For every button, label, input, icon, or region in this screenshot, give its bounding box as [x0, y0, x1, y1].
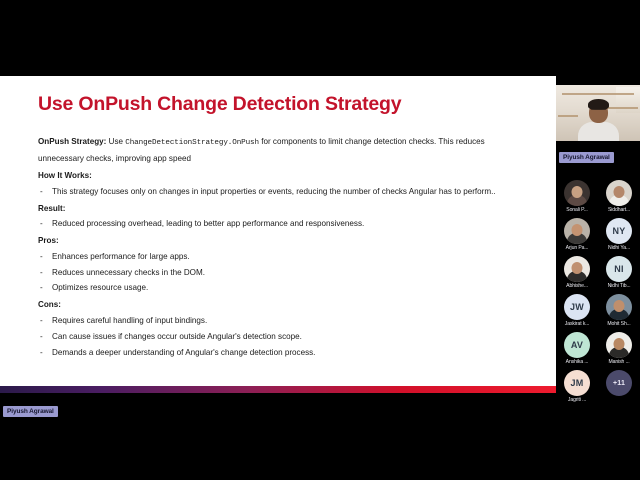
avatar-initials: NY — [606, 218, 632, 244]
avatar-head — [572, 186, 583, 198]
speaker-body — [578, 122, 619, 141]
avatar-initials: JM — [564, 370, 590, 396]
more-participants-tile[interactable]: +11 — [598, 368, 640, 406]
avatar — [564, 180, 590, 206]
bullet-dash: - — [40, 329, 43, 345]
bullet-text: Requires careful handling of input bindi… — [52, 316, 207, 325]
shelf-shape — [562, 93, 634, 95]
participant-name: Sonali P... — [556, 207, 598, 213]
avatar-initials: JW — [564, 294, 590, 320]
participant-tiles-grid: Sonali P... Siddhart... Arjun Pa... NY N… — [556, 178, 640, 406]
presenter-name-chip: Piyush Agrawal — [3, 406, 58, 417]
self-view-name-label: Piyush Agrawal — [559, 152, 614, 163]
shelf-shape — [558, 115, 578, 117]
avatar — [564, 218, 590, 244]
section-heading: Cons: — [38, 297, 526, 313]
avatar-head — [614, 300, 625, 312]
slide-title: Use OnPush Change Detection Strategy — [38, 94, 526, 115]
participant-rail[interactable]: Piyush Agrawal Sonali P... Siddhart... — [556, 0, 640, 480]
participant-tile[interactable]: Abhishe... — [556, 254, 598, 292]
avatar — [606, 294, 632, 320]
avatar-initials: AV — [564, 332, 590, 358]
intro-before: Use — [106, 137, 125, 146]
bullet-dash: - — [40, 345, 43, 361]
avatar — [606, 332, 632, 358]
avatar — [606, 180, 632, 206]
bullet-item: -This strategy focuses only on changes i… — [38, 184, 520, 200]
bullet-dash: - — [40, 313, 43, 329]
participant-tile[interactable]: NY Nidhi Ya... — [598, 216, 640, 254]
bullet-text: Enhances performance for large apps. — [52, 252, 190, 261]
intro-paragraph: OnPush Strategy: Use ChangeDetectionStra… — [38, 134, 506, 167]
bullet-text: Reduced processing overhead, leading to … — [52, 219, 364, 228]
bullet-text: Reduces unnecessary checks in the DOM. — [52, 268, 205, 277]
self-view-video-tile[interactable] — [556, 85, 640, 141]
bullet-dash: - — [40, 249, 43, 265]
participant-name: Nidhi Ya... — [598, 245, 640, 251]
overflow-count-badge: +11 — [606, 370, 632, 396]
bullet-item: -Optimizes resource usage. — [38, 280, 520, 296]
slide-content: Use OnPush Change Detection Strategy OnP… — [0, 76, 556, 393]
bullet-dash: - — [40, 265, 43, 281]
participant-tile[interactable]: Sonali P... — [556, 178, 598, 216]
bullet-text: Optimizes resource usage. — [52, 283, 148, 292]
presentation-stage[interactable]: Use OnPush Change Detection Strategy OnP… — [0, 0, 556, 480]
participant-name: Manish ... — [598, 359, 640, 365]
participant-name: Nidhi Tib... — [598, 283, 640, 289]
avatar — [564, 256, 590, 282]
participant-tile[interactable]: AV Anshika ... — [556, 330, 598, 368]
intro-label: OnPush Strategy: — [38, 137, 106, 146]
bullet-dash: - — [40, 216, 43, 232]
participant-tile[interactable]: JW Jaskirat k... — [556, 292, 598, 330]
participant-tile[interactable]: Arjun Pa... — [556, 216, 598, 254]
participant-tile[interactable]: Siddhart... — [598, 178, 640, 216]
bullet-item: -Reduces unnecessary checks in the DOM. — [38, 265, 520, 281]
video-call-window: Use OnPush Change Detection Strategy OnP… — [0, 0, 640, 480]
participant-tile[interactable]: Mohit Sh... — [598, 292, 640, 330]
participant-name: Arjun Pa... — [556, 245, 598, 251]
avatar-initials: NI — [606, 256, 632, 282]
participant-name: Siddhart... — [598, 207, 640, 213]
avatar-head — [614, 338, 625, 350]
bullet-text: This strategy focuses only on changes in… — [52, 187, 496, 196]
intro-code-span: ChangeDetectionStrategy.OnPush — [125, 139, 259, 147]
participant-tile[interactable]: Manish ... — [598, 330, 640, 368]
glasses-icon — [591, 109, 606, 114]
avatar-head — [572, 224, 583, 236]
participant-name: Abhishe... — [556, 283, 598, 289]
participant-tile[interactable]: NI Nidhi Tib... — [598, 254, 640, 292]
section-heading: Result: — [38, 201, 526, 217]
bullet-item: -Reduced processing overhead, leading to… — [38, 216, 520, 232]
bullet-item: -Can cause issues if changes occur outsi… — [38, 329, 520, 345]
avatar-head — [572, 262, 583, 274]
slide-body: OnPush Strategy: Use ChangeDetectionStra… — [38, 134, 526, 360]
bullet-dash: - — [40, 280, 43, 296]
participant-tile[interactable]: JM Jagriti ... — [556, 368, 598, 406]
participant-name: Jagriti ... — [556, 397, 598, 403]
bullet-text: Demands a deeper understanding of Angula… — [52, 348, 315, 357]
slide-footer-gradient-bar — [0, 386, 556, 393]
shared-slide: Use OnPush Change Detection Strategy OnP… — [0, 76, 556, 393]
participant-name: Mohit Sh... — [598, 321, 640, 327]
bullet-item: -Requires careful handling of input bind… — [38, 313, 520, 329]
section-heading: How It Works: — [38, 168, 526, 184]
bullet-item: -Demands a deeper understanding of Angul… — [38, 345, 520, 361]
bullet-item: -Enhances performance for large apps. — [38, 249, 520, 265]
avatar-head — [614, 186, 625, 198]
bullet-dash: - — [40, 184, 43, 200]
participant-name: Jaskirat k... — [556, 321, 598, 327]
participant-name: Anshika ... — [556, 359, 598, 365]
bullet-text: Can cause issues if changes occur outsid… — [52, 332, 302, 341]
window-shape — [616, 87, 640, 113]
section-heading: Pros: — [38, 233, 526, 249]
